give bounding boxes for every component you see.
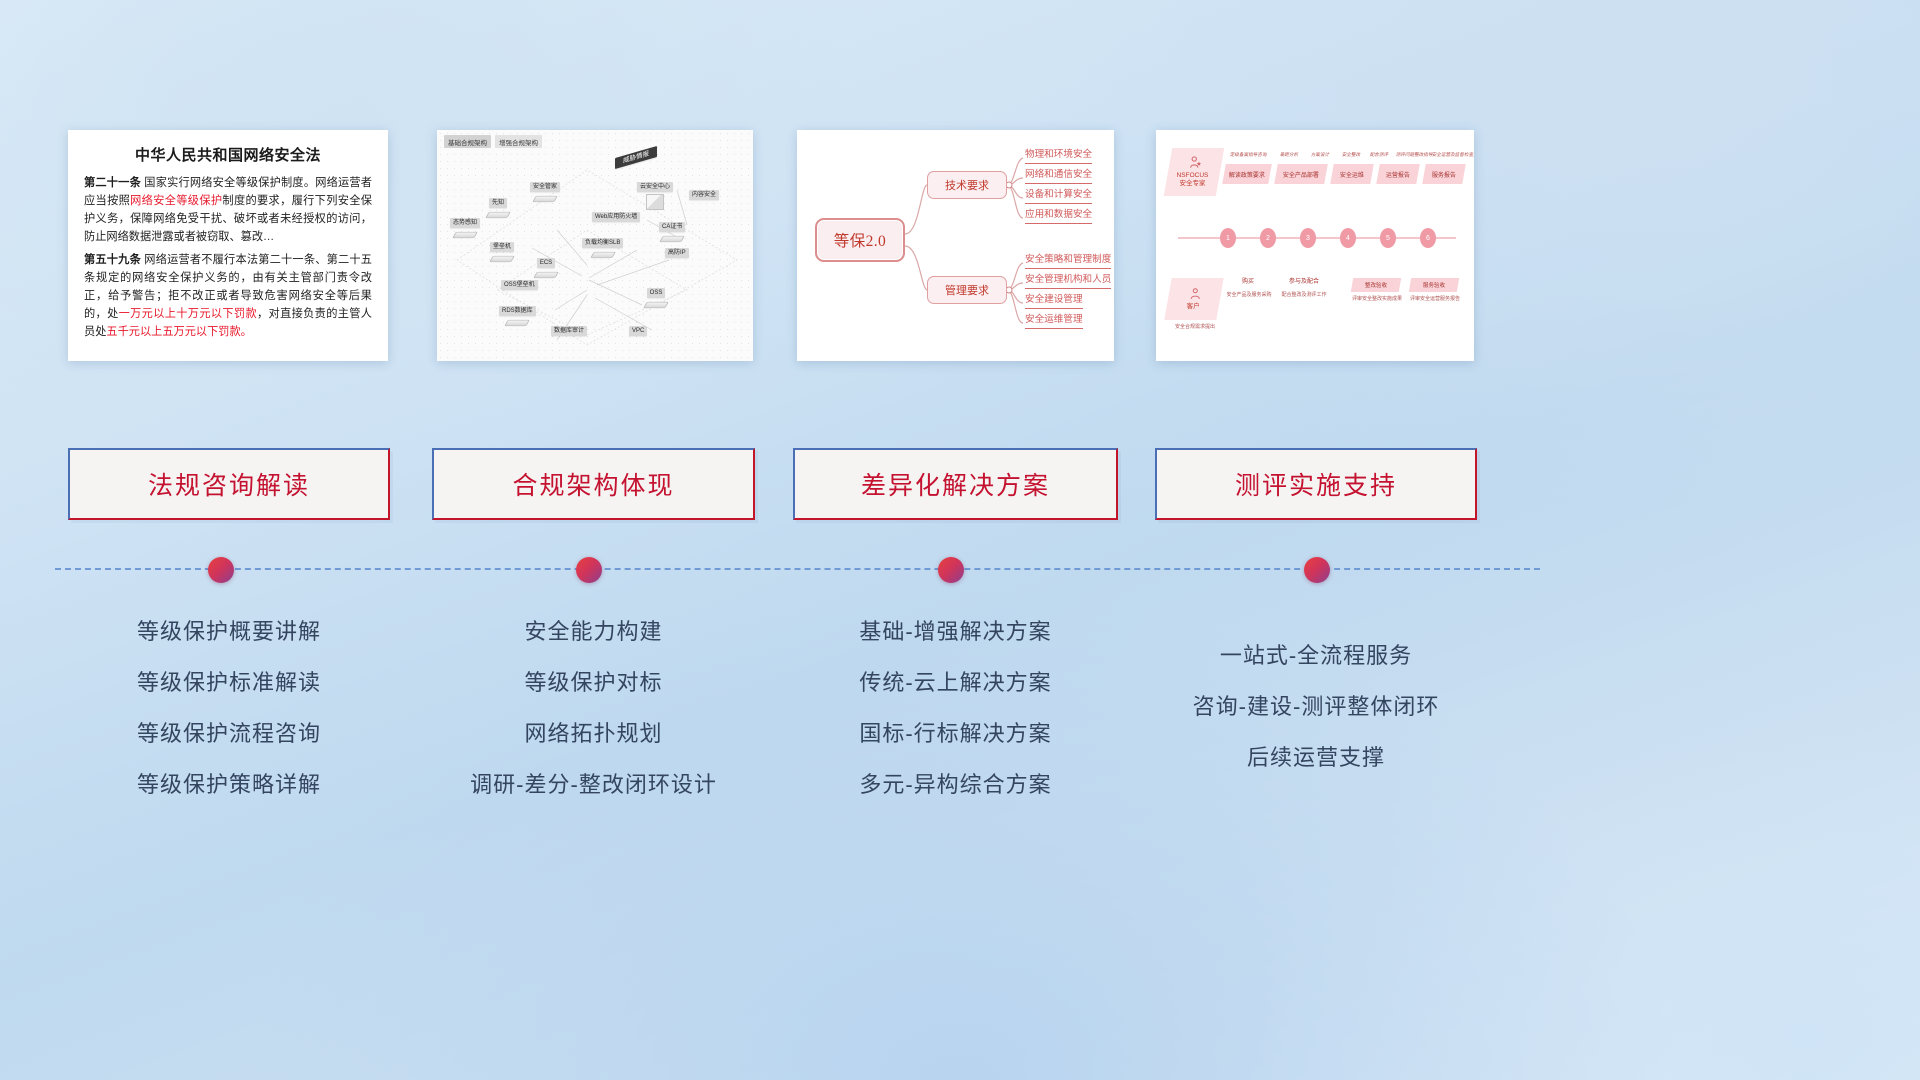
architecture-node-taishiganzhi: 态势感知	[450, 218, 480, 240]
list-item: 后续运营支撑	[1155, 732, 1477, 783]
customer-label: 客户	[1186, 303, 1199, 311]
list-item: 等级保护对标	[432, 657, 755, 708]
architecture-tab-enhanced[interactable]: 增强合规架构	[495, 135, 542, 148]
nsfocus-band: 服务报告	[1422, 164, 1466, 184]
node-puck-icon	[659, 235, 685, 241]
architecture-node-waf: Web应用防火墙	[592, 212, 640, 222]
nsfocus-bottom-title: 参与及配合	[1278, 278, 1330, 286]
nsfocus-bottom-tag: 服务验收	[1409, 278, 1459, 292]
nsfocus-step: 6	[1420, 228, 1436, 248]
architecture-node-oss-baoleiji: OSS堡垒机	[501, 280, 538, 290]
nsfocus-band: 安全运维	[1330, 164, 1374, 184]
timeline-dot-1[interactable]	[208, 557, 234, 583]
nsfocus-bottom-sub: 配合整改及测评工作	[1274, 292, 1334, 299]
architecture-tab-basic[interactable]: 基础合规架构	[444, 135, 491, 148]
architecture-node-gaofangip: 高防IP	[665, 248, 689, 258]
pillar-list-solution: 基础-增强解决方案 传统-云上解决方案 国标-行标解决方案 多元-异构综合方案	[793, 606, 1118, 810]
architecture-canvas: 基础合规架构 增强合规架构 威胁情报 安全管家 先知 态势感知 堡垒机 ECS	[437, 130, 753, 361]
nsfocus-band: 解读政策要求	[1222, 164, 1272, 184]
nsfocus-expert-badge: NSFOCUS 安全专家	[1164, 148, 1224, 196]
expert-role: 安全专家	[1177, 181, 1209, 189]
list-item: 国标-行标解决方案	[793, 708, 1118, 759]
pillar-title: 差异化解决方案	[861, 466, 1050, 502]
nsfocus-bottom-sub: 评审安全运营服务报告	[1402, 296, 1468, 303]
preview-card-architecture[interactable]: 基础合规架构 增强合规架构 威胁情报 安全管家 先知 态势感知 堡垒机 ECS	[437, 130, 753, 361]
nsfocus-step: 5	[1380, 228, 1396, 248]
architecture-node-baoleiji: 堡垒机	[490, 242, 514, 264]
law-article-59-highlight-1: 一万元以上十万元以下罚款	[119, 308, 257, 320]
architecture-node-label: ECS	[537, 258, 555, 268]
nsfocus-top-item: 配合测评	[1369, 152, 1388, 158]
pillar-list-regulation: 等级保护概要讲解 等级保护标准解读 等级保护流程咨询 等级保护策略详解	[68, 606, 390, 810]
list-item: 网络拓扑规划	[432, 708, 755, 759]
nsfocus-bottom-title: 整改验收	[1365, 281, 1387, 289]
list-item: 咨询-建设-测评整体闭环	[1155, 681, 1477, 732]
architecture-node-label: 态势感知	[450, 218, 480, 228]
law-article-21-highlight: 网络安全等级保护	[130, 195, 222, 207]
nsfocus-customer-sub: 安全合规需求提出	[1164, 324, 1226, 331]
nsfocus-canvas: NSFOCUS 安全专家 定级备案指导咨询 差距分析 方案设计 安全整改 配合测…	[1156, 130, 1474, 361]
list-item: 等级保护标准解读	[68, 657, 390, 708]
law-article-21: 第二十一条 国家实行网络安全等级保护制度。网络运营者应当按照网络安全等级保护制度…	[84, 174, 372, 247]
pillar-bar-architecture[interactable]: 合规架构体现	[432, 448, 755, 520]
mindmap-leaf: 设备和计算安全	[1025, 189, 1092, 204]
list-item: 调研-差分-整改闭环设计	[432, 759, 755, 810]
list-item: 等级保护流程咨询	[68, 708, 390, 759]
architecture-node-db-audit: 数据库审计	[551, 326, 587, 336]
architecture-node-yunanquan: 云安全中心	[637, 182, 673, 210]
nsfocus-top-item: 安全整改	[1341, 152, 1360, 158]
nsfocus-bottom-sub: 评审安全整改实施成果	[1344, 296, 1410, 303]
architecture-node-label: OSS	[647, 288, 666, 298]
list-item: 等级保护概要讲解	[68, 606, 390, 657]
architecture-node-label: OSS堡垒机	[501, 280, 538, 290]
preview-card-mindmap[interactable]: 等保2.0 技术要求 管理要求 物理和环境安全 网络和通信安全 设备和计算安全 …	[797, 130, 1114, 361]
node-puck-icon	[533, 271, 559, 277]
architecture-tabs[interactable]: 基础合规架构 增强合规架构	[444, 135, 542, 148]
architecture-node-xianzhi: 先知	[487, 198, 509, 220]
mindmap-leaf: 网络和通信安全	[1025, 169, 1092, 184]
nsfocus-band-label: 服务报告	[1432, 170, 1456, 179]
nsfocus-band-label: 解读政策要求	[1229, 170, 1265, 179]
mindmap-leaf: 安全管理机构和人员	[1025, 274, 1111, 289]
law-article-21-label: 第二十一条	[84, 177, 141, 189]
nsfocus-customer-badge: 客户	[1164, 278, 1223, 320]
pillar-title: 合规架构体现	[512, 466, 674, 502]
timeline-dot-2[interactable]	[576, 557, 602, 583]
nsfocus-band: 运营报告	[1376, 164, 1420, 184]
architecture-node-oss: OSS	[645, 288, 667, 310]
node-puck-icon	[532, 195, 558, 201]
nsfocus-band-label: 安全运维	[1340, 170, 1364, 179]
pillar-title-bars: 法规咨询解读 合规架构体现 差异化解决方案 测评实施支持	[0, 448, 1920, 520]
node-puck-icon	[485, 211, 511, 217]
architecture-node-vpc: VPC	[629, 326, 647, 336]
node-puck-icon	[489, 255, 515, 261]
nsfocus-band-label: 运营报告	[1386, 170, 1410, 179]
architecture-node-label: 堡垒机	[490, 242, 514, 252]
architecture-node-label: VPC	[629, 326, 647, 336]
architecture-node-label: RDS数据库	[499, 306, 536, 316]
node-puck-icon	[452, 231, 478, 237]
preview-card-law[interactable]: 中华人民共和国网络安全法 第二十一条 国家实行网络安全等级保护制度。网络运营者应…	[68, 130, 388, 361]
list-item: 等级保护策略详解	[68, 759, 390, 810]
node-puck-icon	[590, 251, 616, 257]
architecture-node-label: 数据库审计	[551, 326, 587, 336]
pillar-bar-regulation[interactable]: 法规咨询解读	[68, 448, 390, 520]
architecture-node-label: Web应用防火墙	[592, 212, 640, 222]
architecture-node-label: 先知	[489, 198, 507, 208]
expert-person-icon	[1188, 155, 1204, 171]
nsfocus-top-item: 差距分析	[1279, 152, 1298, 158]
mindmap-canvas: 等保2.0 技术要求 管理要求 物理和环境安全 网络和通信安全 设备和计算安全 …	[797, 130, 1114, 361]
nsfocus-top-item: 安全运营及监督检查支撑	[1431, 152, 1474, 158]
list-item: 基础-增强解决方案	[793, 606, 1118, 657]
pillar-list-assessment: 一站式-全流程服务 咨询-建设-测评整体闭环 后续运营支撑	[1155, 630, 1477, 783]
pillar-title: 法规咨询解读	[148, 466, 310, 502]
customer-person-icon	[1187, 287, 1202, 302]
architecture-node-ecs: ECS	[535, 258, 557, 280]
nsfocus-top-item: 定级备案指导咨询	[1229, 152, 1267, 158]
timeline-dot-3[interactable]	[938, 557, 964, 583]
nsfocus-top-item: 方案设计	[1310, 152, 1329, 158]
architecture-node-label: CA证书	[659, 222, 685, 232]
law-article-59-label: 第五十九条	[84, 254, 141, 266]
pillar-title: 测评实施支持	[1235, 466, 1397, 502]
architecture-node-label: 云安全中心	[637, 182, 673, 192]
nsfocus-step: 2	[1260, 228, 1276, 248]
architecture-node-label: 内容安全	[689, 190, 719, 200]
nsfocus-bottom-tag: 整改验收	[1351, 278, 1401, 292]
nsfocus-step: 3	[1300, 228, 1316, 248]
mindmap-leaf: 安全策略和管理制度	[1025, 254, 1111, 269]
architecture-node-banner: 威胁情报	[615, 152, 657, 163]
node-puck-icon	[643, 301, 669, 307]
mindmap-branch-management: 管理要求	[927, 276, 1007, 304]
architecture-node-ca: CA证书	[659, 222, 685, 244]
list-item: 安全能力构建	[432, 606, 755, 657]
architecture-node-neirong: 内容安全	[689, 190, 719, 200]
law-article-59-highlight-2: 五千元以上五万元以下罚款。	[106, 326, 251, 338]
nsfocus-bottom-sub: 安全产品及服务采购	[1222, 292, 1276, 299]
node-puck-icon	[505, 319, 531, 325]
architecture-node-rds: RDS数据库	[499, 306, 536, 328]
nsfocus-step: 1	[1220, 228, 1236, 248]
timeline-axis	[55, 568, 1540, 570]
mindmap-leaf: 安全建设管理	[1025, 294, 1083, 309]
architecture-node-label: 安全管家	[530, 182, 560, 192]
timeline-dot-4[interactable]	[1304, 557, 1330, 583]
nsfocus-step: 4	[1340, 228, 1356, 248]
architecture-node-slb: 负载均衡SLB	[582, 238, 623, 260]
architecture-node-label: 高防IP	[665, 248, 689, 258]
mindmap-leaf: 安全运维管理	[1025, 314, 1083, 329]
law-title: 中华人民共和国网络安全法	[84, 144, 372, 165]
mindmap-branch-technical: 技术要求	[927, 171, 1007, 199]
nsfocus-band-label: 安全产品部署	[1283, 170, 1319, 179]
node-cube-icon	[646, 194, 664, 210]
pillar-bar-assessment[interactable]: 测评实施支持	[1155, 448, 1477, 520]
nsfocus-bottom-title: 服务验收	[1423, 281, 1445, 289]
customer-name-block: 客户	[1186, 303, 1199, 311]
mindmap-leaf: 物理和环境安全	[1025, 149, 1092, 164]
list-item: 传统-云上解决方案	[793, 657, 1118, 708]
mindmap-leaf: 应用和数据安全	[1025, 209, 1092, 224]
nsfocus-band: 安全产品部署	[1274, 164, 1328, 184]
pillar-bar-solution[interactable]: 差异化解决方案	[793, 448, 1118, 520]
expert-name-block: NSFOCUS 安全专家	[1177, 172, 1209, 188]
list-item: 多元-异构综合方案	[793, 759, 1118, 810]
mindmap-root-node: 等保2.0	[815, 218, 905, 262]
law-article-59: 第五十九条 网络运营者不履行本法第二十一条、第二十五条规定的网络安全保护义务的，…	[84, 251, 372, 342]
architecture-node-anquanguanjia: 安全管家	[530, 182, 560, 204]
nsfocus-top-item: 测评问题整改指导	[1395, 152, 1433, 158]
list-item: 一站式-全流程服务	[1155, 630, 1477, 681]
pillar-list-architecture: 安全能力构建 等级保护对标 网络拓扑规划 调研-差分-整改闭环设计	[432, 606, 755, 810]
preview-card-nsfocus-timeline[interactable]: NSFOCUS 安全专家 定级备案指导咨询 差距分析 方案设计 安全整改 配合测…	[1156, 130, 1474, 361]
nsfocus-bottom-title: 购买	[1228, 278, 1268, 286]
architecture-node-label: 负载均衡SLB	[582, 238, 623, 248]
